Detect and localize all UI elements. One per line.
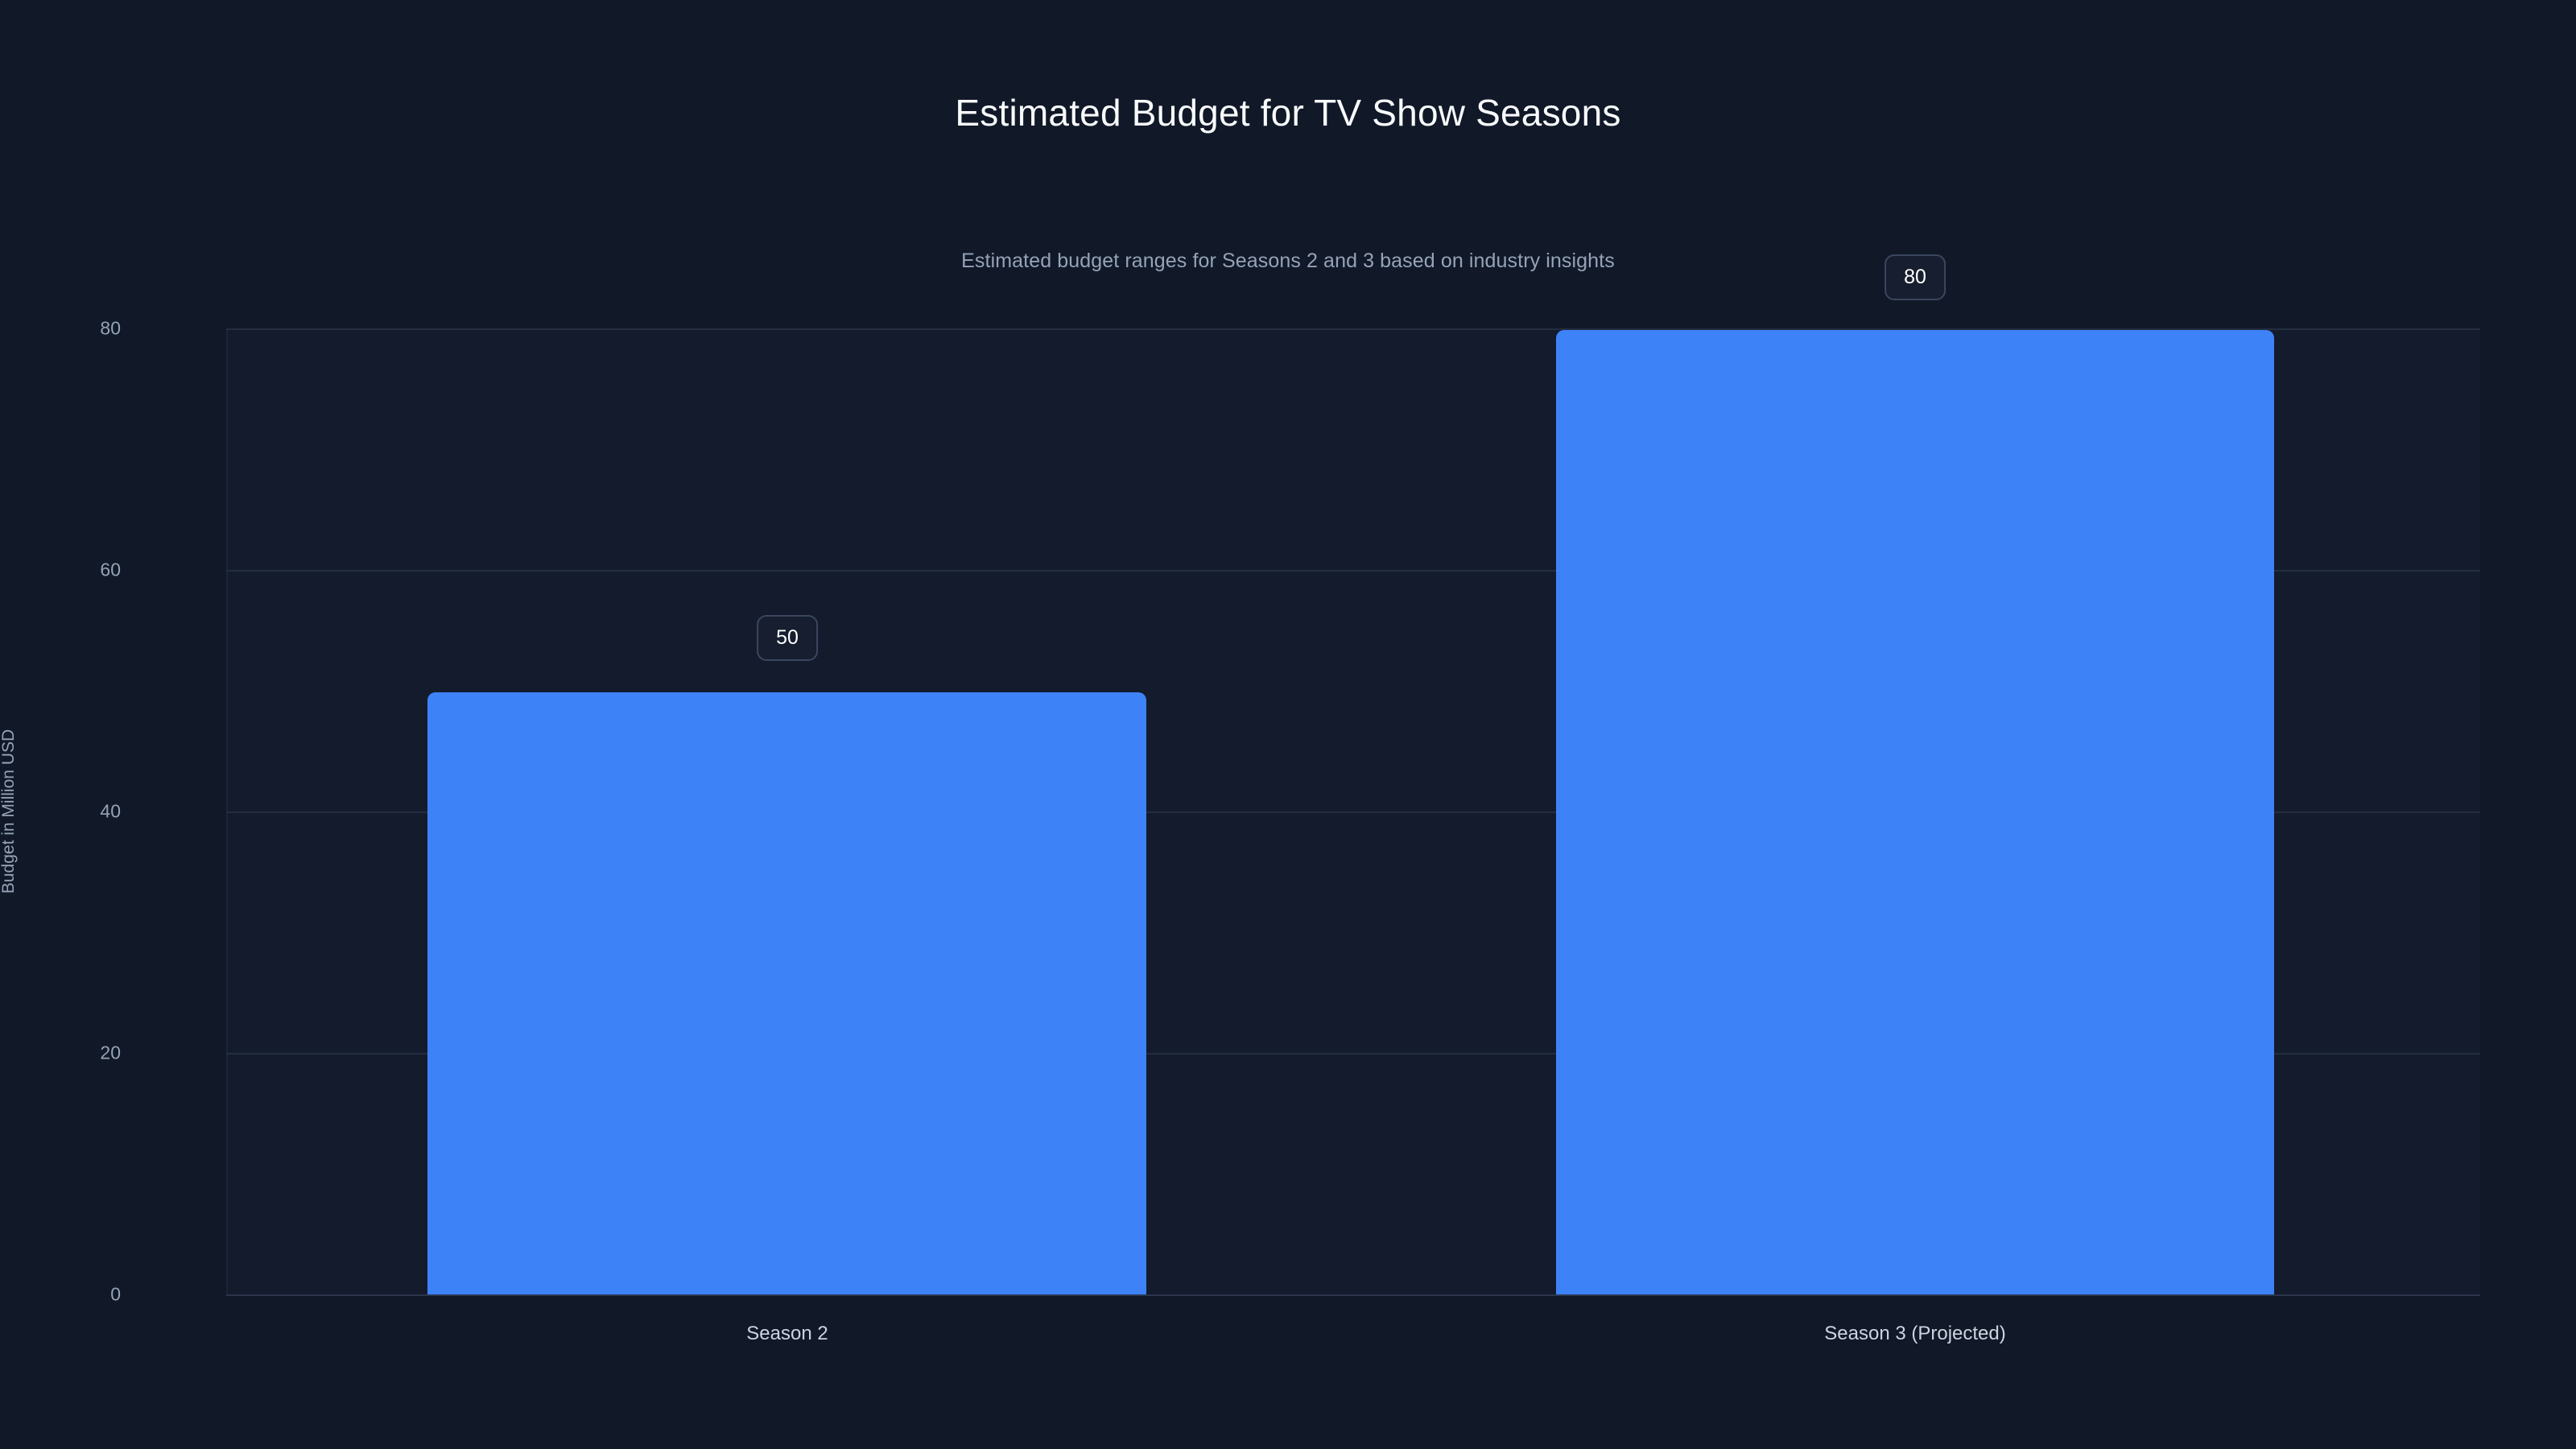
y-axis-tick-label: 40 [0, 803, 121, 821]
x-axis-tick-label: Season 2 [746, 1324, 828, 1344]
bar[interactable] [1556, 330, 2274, 1294]
y-axis-tick-label: 80 [0, 320, 121, 338]
x-axis-baseline [226, 1294, 2480, 1296]
chart-title: Estimated Budget for TV Show Seasons [0, 90, 2576, 137]
y-axis-tick-label: 60 [0, 561, 121, 580]
bar-value-label: 80 [1885, 254, 1946, 300]
bar[interactable] [427, 692, 1146, 1294]
chart-subtitle: Estimated budget ranges for Seasons 2 an… [0, 248, 2576, 275]
y-axis-tick-label: 20 [0, 1044, 121, 1063]
bar-value-label: 50 [757, 615, 818, 661]
y-axis-tick-label: 0 [0, 1286, 121, 1304]
bar-chart-figure: Estimated Budget for TV Show Seasons Est… [0, 0, 2576, 1449]
x-axis-tick-label: Season 3 (Projected) [1824, 1324, 2005, 1344]
y-axis-title: Budget in Million USD [0, 691, 17, 932]
